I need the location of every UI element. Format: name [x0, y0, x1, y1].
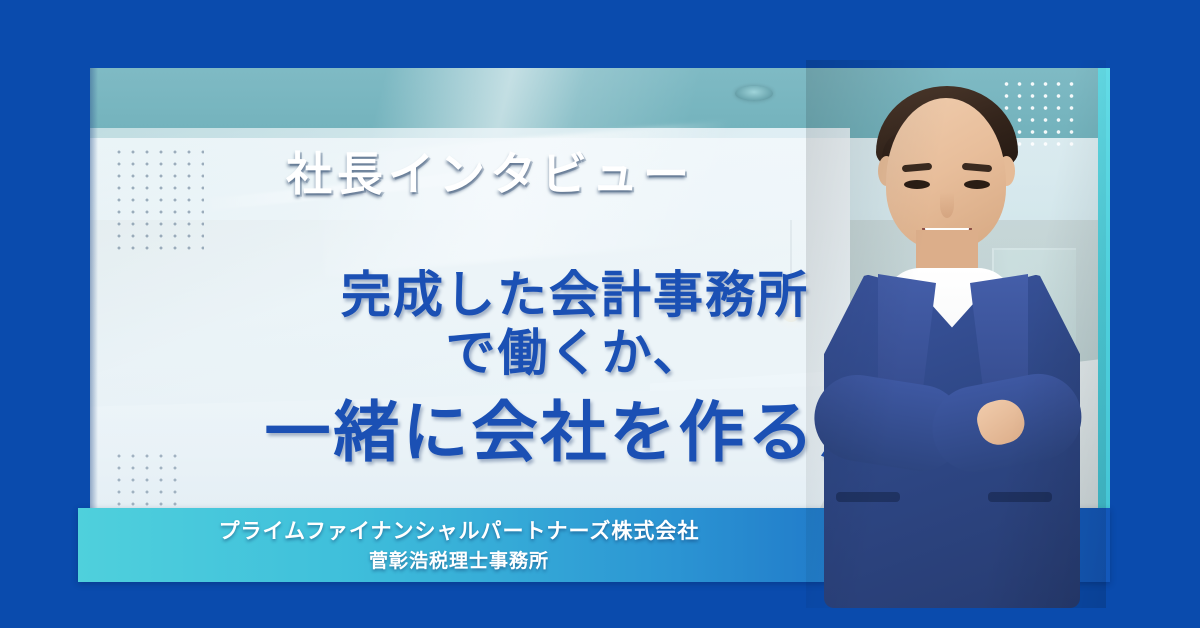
person-nose	[940, 192, 954, 218]
person-pocket-right	[988, 492, 1052, 502]
banner-root: 社長インタビュー 完成した会計事務所 で働くか、 一緒に会社を作るか プライムフ…	[0, 0, 1200, 628]
dot-pattern-bottom-left	[112, 450, 182, 508]
portrait-person	[806, 60, 1106, 608]
person-pocket-left	[836, 492, 900, 502]
office-name: 菅彰浩税理士事務所	[78, 548, 840, 577]
ceiling-light-icon	[735, 86, 773, 101]
person-eye-left	[904, 180, 930, 189]
photo-left-edge-shadow	[90, 68, 98, 508]
person-eye-right	[964, 180, 990, 189]
company-name: プライムファイナンシャルパートナーズ株式会社	[78, 516, 840, 548]
